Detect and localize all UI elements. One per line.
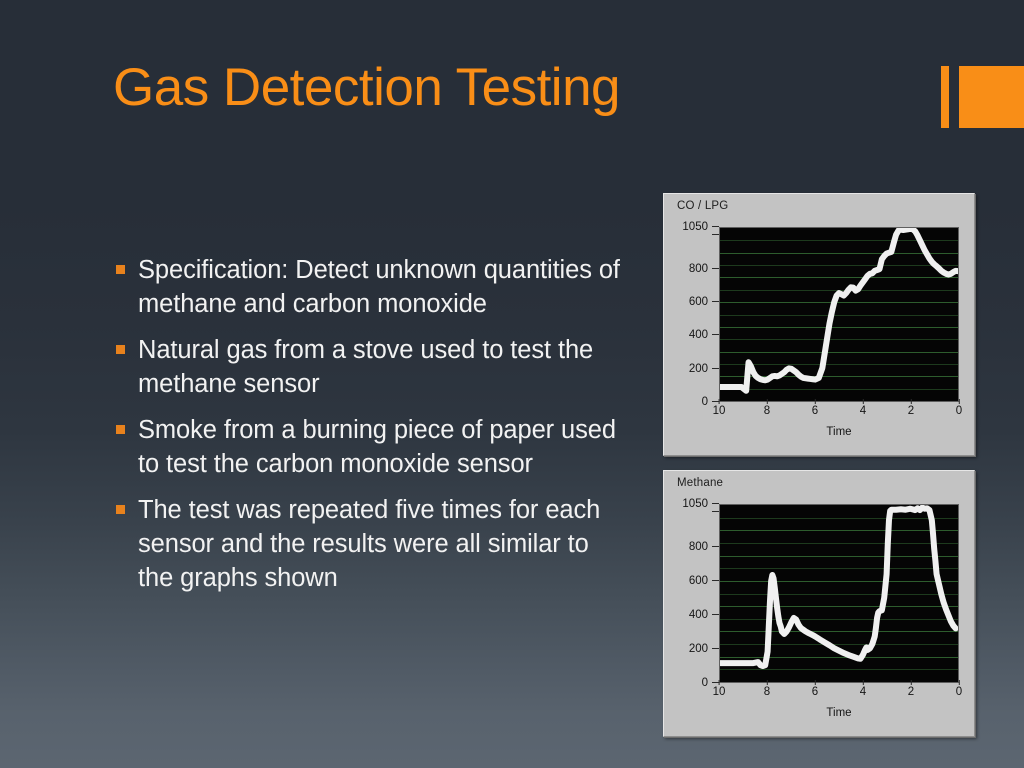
bullet-text: Natural gas from a stove used to test th… — [138, 333, 621, 401]
x-axis-tick-label: 0 — [956, 399, 962, 417]
y-axis-tick-label: 200 — [689, 643, 719, 655]
x-axis-tick-label: 10 — [713, 680, 726, 698]
x-axis-tick-label: 8 — [764, 680, 770, 698]
x-axis-tick-label: 2 — [908, 680, 914, 698]
data-trace — [720, 228, 958, 401]
graph-title: Methane — [677, 477, 723, 489]
plot-area — [719, 504, 959, 683]
y-axis-tick-label: 1050 — [682, 498, 719, 510]
bullet-square-icon — [116, 505, 125, 514]
list-item: Specification: Detect unknown quantities… — [116, 253, 621, 321]
y-axis-tick-label: 600 — [689, 575, 719, 587]
y-axis-minor-tick — [712, 511, 719, 512]
x-axis-tick-label: 8 — [764, 399, 770, 417]
x-axis-label: Time — [719, 707, 959, 719]
bullet-text: Specification: Detect unknown quantities… — [138, 253, 621, 321]
y-axis: 02004006008001050 — [673, 504, 719, 683]
bullet-text: Smoke from a burning piece of paper used… — [138, 413, 621, 481]
decoration-bar — [941, 66, 949, 128]
bullet-square-icon — [116, 265, 125, 274]
bullet-square-icon — [116, 345, 125, 354]
list-item: Natural gas from a stove used to test th… — [116, 333, 621, 401]
y-axis-tick-label: 400 — [689, 609, 719, 621]
x-axis-label: Time — [719, 426, 959, 438]
x-axis-tick-label: 6 — [812, 680, 818, 698]
graph-area: 020040060080010501086420Time — [673, 495, 965, 727]
plot-area — [719, 227, 959, 402]
x-axis: 1086420 — [719, 399, 959, 419]
x-axis-tick-label: 6 — [812, 399, 818, 417]
slide-root: Gas Detection Testing Specification: Det… — [0, 0, 1024, 768]
bullet-text: The test was repeated five times for eac… — [138, 493, 621, 595]
graph-title: CO / LPG — [677, 200, 728, 212]
graph-panel-methane: Methane020040060080010501086420Time — [663, 470, 975, 737]
x-axis: 1086420 — [719, 680, 959, 700]
x-axis-tick-label: 4 — [860, 399, 866, 417]
y-axis-tick-label: 600 — [689, 296, 719, 308]
y-axis-tick-label: 800 — [689, 541, 719, 553]
y-axis-tick-label: 200 — [689, 363, 719, 375]
y-axis-tick-label: 400 — [689, 329, 719, 341]
data-trace — [720, 505, 958, 682]
x-axis-tick-label: 4 — [860, 680, 866, 698]
x-axis-tick-label: 0 — [956, 680, 962, 698]
page-title: Gas Detection Testing — [113, 57, 620, 118]
x-axis-tick-label: 10 — [713, 399, 726, 417]
decoration-block — [959, 66, 1024, 128]
y-axis-minor-tick — [712, 234, 719, 235]
list-item: The test was repeated five times for eac… — [116, 493, 621, 595]
graph-panel-co-lpg: CO / LPG020040060080010501086420Time — [663, 193, 975, 456]
bullet-list: Specification: Detect unknown quantities… — [116, 253, 621, 607]
x-axis-tick-label: 2 — [908, 399, 914, 417]
corner-decoration — [941, 66, 1024, 128]
y-axis-tick-label: 800 — [689, 263, 719, 275]
list-item: Smoke from a burning piece of paper used… — [116, 413, 621, 481]
y-axis: 02004006008001050 — [673, 227, 719, 402]
y-axis-tick-label: 1050 — [682, 221, 719, 233]
graph-area: 020040060080010501086420Time — [673, 218, 965, 446]
bullet-square-icon — [116, 425, 125, 434]
